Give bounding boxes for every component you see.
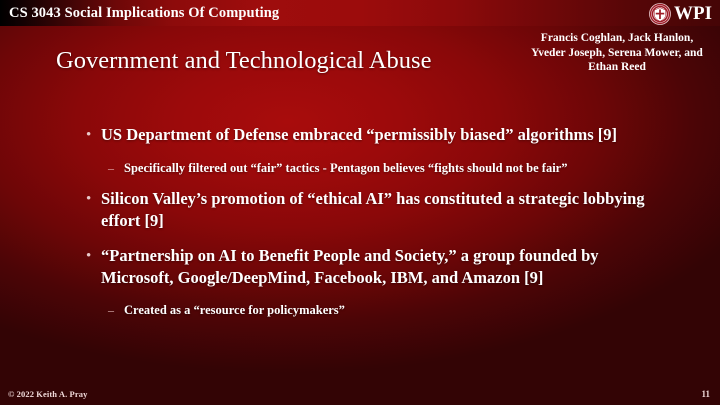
bullet-marker-dot: •	[84, 245, 101, 267]
sub-bullet-marker-dash: –	[107, 302, 124, 319]
wpi-seal-icon	[649, 3, 671, 25]
slide: CS 3043 Social Implications Of Computing…	[0, 0, 720, 405]
bullet-item: • Silicon Valley’s promotion of “ethical…	[84, 188, 656, 231]
sub-bullet-item: – Created as a “resource for policymaker…	[107, 302, 656, 319]
course-title: CS 3043 Social Implications Of Computing	[9, 2, 279, 24]
slide-title: Government and Technological Abuse	[56, 46, 506, 76]
bullet-text: US Department of Defense embraced “permi…	[101, 124, 656, 146]
page-number: 11	[701, 389, 710, 400]
bullet-marker-dot: •	[84, 124, 101, 146]
bullet-marker-dot: •	[84, 188, 101, 210]
sub-bullet-marker-dash: –	[107, 160, 124, 177]
bullet-item: • “Partnership on AI to Benefit People a…	[84, 245, 656, 288]
bullet-group: • Silicon Valley’s promotion of “ethical…	[84, 188, 656, 231]
bullet-text: Silicon Valley’s promotion of “ethical A…	[101, 188, 656, 231]
copyright-notice: © 2022 Keith A. Pray	[8, 389, 87, 400]
slide-body: • US Department of Defense embraced “per…	[84, 124, 656, 330]
wpi-logo: WPI	[649, 1, 712, 26]
authors-list: Francis Coghlan, Jack Hanlon, Yveder Jos…	[528, 31, 706, 75]
bullet-group: • US Department of Defense embraced “per…	[84, 124, 656, 177]
sub-bullet-text: Created as a “resource for policymakers”	[124, 302, 656, 319]
sub-bullet-text: Specifically filtered out “fair” tactics…	[124, 160, 656, 177]
sub-bullet-item: – Specifically filtered out “fair” tacti…	[107, 160, 656, 177]
bullet-text: “Partnership on AI to Benefit People and…	[101, 245, 656, 288]
header-bar: CS 3043 Social Implications Of Computing…	[0, 0, 720, 26]
bullet-group: • “Partnership on AI to Benefit People a…	[84, 245, 656, 319]
wpi-wordmark: WPI	[674, 4, 712, 24]
bullet-item: • US Department of Defense embraced “per…	[84, 124, 656, 146]
